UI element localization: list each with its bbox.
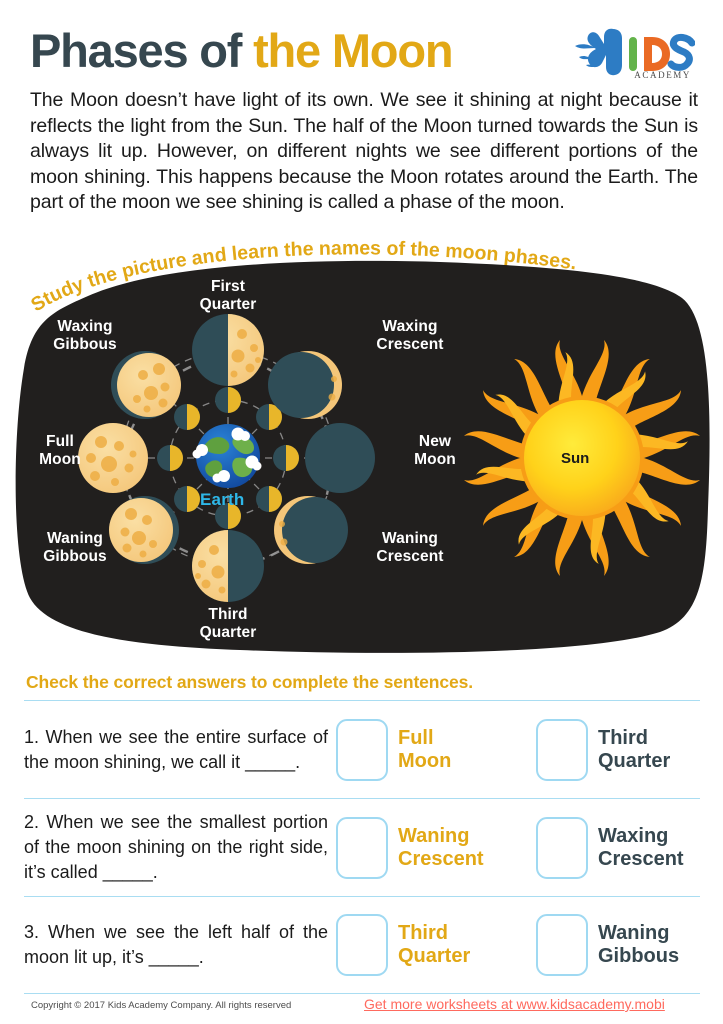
copyright-text: Copyright © 2017 Kids Academy Company. A… <box>31 1000 291 1011</box>
page-title-part1: Phases of <box>30 24 253 77</box>
question-2-option-b[interactable]: Waxing Crescent <box>536 817 684 879</box>
label-third-quarter: ThirdQuarter <box>178 606 278 642</box>
moon-waxing-gibbous <box>111 351 181 419</box>
question-3-option-a[interactable]: Third Quarter <box>336 914 536 976</box>
label-first-quarter: FirstQuarter <box>178 278 278 314</box>
label-new-moon: NewMoon <box>390 433 480 469</box>
quiz-row-1: 1. When we see the entire surface of the… <box>24 700 700 798</box>
earth-label: Earth <box>200 490 244 510</box>
option-label-q1-a: Full Moon <box>398 727 451 773</box>
page-header: Phases of the Moon ACADEMY <box>30 22 695 84</box>
option-label-q1-b: Third Quarter <box>598 727 670 773</box>
label-waxing-gibbous: WaxingGibbous <box>30 318 140 354</box>
label-full-moon: FullMoon <box>20 433 100 469</box>
moon-third-quarter <box>192 530 264 602</box>
intro-paragraph: The Moon doesn’t have light of its own. … <box>30 88 698 216</box>
page-title-part2: the Moon <box>253 24 452 77</box>
checkbox-q2-b[interactable] <box>536 817 588 879</box>
quiz-row-2: 2. When we see the smallest portion of t… <box>24 798 700 896</box>
moon-waxing-crescent <box>268 351 342 419</box>
checkbox-q1-a[interactable] <box>336 719 388 781</box>
worksheet-page: Phases of the Moon ACADEMY The Moon does… <box>0 0 723 1024</box>
option-label-q3-a: Third Quarter <box>398 922 470 968</box>
checkbox-q3-a[interactable] <box>336 914 388 976</box>
question-1-text: 1. When we see the entire surface of the… <box>24 725 336 775</box>
question-1-option-b[interactable]: Third Quarter <box>536 719 670 781</box>
moon-new-moon <box>305 423 375 493</box>
question-2-text: 2. When we see the smallest portion of t… <box>24 810 336 885</box>
question-2-option-a[interactable]: Waning Crescent <box>336 817 536 879</box>
checkbox-q1-b[interactable] <box>536 719 588 781</box>
page-title: Phases of the Moon <box>30 22 452 80</box>
moon-phases-diagram: FirstQuarter WaxingCrescent NewMoon Wani… <box>10 258 716 656</box>
moon-first-quarter <box>192 314 264 386</box>
checkbox-q2-a[interactable] <box>336 817 388 879</box>
option-label-q2-a: Waning Crescent <box>398 825 484 871</box>
question-3-option-b[interactable]: Waning Gibbous <box>536 914 679 976</box>
checkbox-q3-b[interactable] <box>536 914 588 976</box>
question-1-option-a[interactable]: Full Moon <box>336 719 536 781</box>
quiz-table: 1. When we see the entire surface of the… <box>24 700 700 994</box>
kids-academy-logo: ACADEMY <box>573 24 695 82</box>
option-label-q2-b: Waxing Crescent <box>598 825 684 871</box>
option-label-q3-b: Waning Gibbous <box>598 922 679 968</box>
label-waxing-crescent: WaxingCrescent <box>350 318 470 354</box>
moon-waning-crescent <box>274 496 348 564</box>
quiz-heading: Check the correct answers to complete th… <box>26 672 473 693</box>
promo-link[interactable]: Get more worksheets at www.kidsacademy.m… <box>364 996 665 1012</box>
logo-subtitle: ACADEMY <box>634 70 691 80</box>
quiz-row-3: 3. When we see the left half of the moon… <box>24 896 700 994</box>
question-3-text: 3. When we see the left half of the moon… <box>24 920 336 970</box>
label-waning-gibbous: WaningGibbous <box>20 530 130 566</box>
label-waning-crescent: WaningCrescent <box>350 530 470 566</box>
sun-label: Sun <box>561 450 589 467</box>
